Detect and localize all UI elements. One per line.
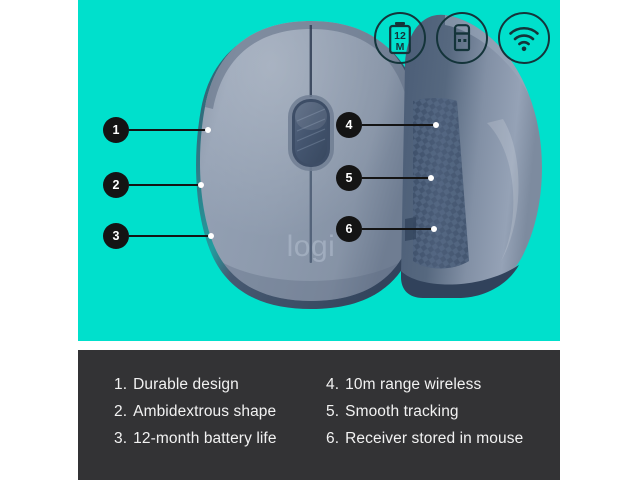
callout-leader-line-6 — [362, 228, 432, 230]
callout-leader-line-5 — [362, 177, 429, 179]
legend-item-2: 2. Ambidextrous shape — [114, 403, 316, 421]
callout-leader-line-4 — [362, 124, 434, 126]
wireless-signal-icon — [498, 12, 550, 64]
legend-item-2-text: Ambidextrous shape — [133, 403, 276, 421]
legend-item-1-text: Durable design — [133, 376, 239, 394]
legend-item-2-number: 2. — [114, 403, 127, 421]
callout-anchor-dot-6 — [431, 226, 437, 232]
usb-receiver-icon — [436, 12, 488, 64]
callout-anchor-dot-1 — [205, 127, 211, 133]
legend-item-5-text: Smooth tracking — [345, 403, 459, 421]
callout-6[interactable]: 6 — [336, 216, 437, 242]
legend-item-6-text: Receiver stored in mouse — [345, 430, 523, 448]
hero-panel: logi — [78, 0, 560, 341]
callout-leader-line-2 — [129, 184, 199, 186]
scroll-wheel-gloss — [295, 102, 327, 130]
legend-item-4: 4. 10m range wireless — [326, 376, 560, 394]
callout-4[interactable]: 4 — [336, 112, 439, 138]
callout-badge-5: 5 — [336, 165, 362, 191]
callout-badge-3: 3 — [103, 223, 129, 249]
feature-legend-panel: 1. Durable design 2. Ambidextrous shape … — [78, 350, 560, 480]
callout-badge-4: 4 — [336, 112, 362, 138]
legend-item-1: 1. Durable design — [114, 376, 316, 394]
legend-item-1-number: 1. — [114, 376, 127, 394]
legend-item-6: 6. Receiver stored in mouse — [326, 430, 560, 448]
battery-icon-months-unit: M — [396, 41, 405, 53]
legend-item-4-number: 4. — [326, 376, 339, 394]
legend-item-3: 3. 12-month battery life — [114, 430, 316, 448]
legend-item-3-text: 12-month battery life — [133, 430, 276, 448]
legend-item-5-number: 5. — [326, 403, 339, 421]
legend-item-3-number: 3. — [114, 430, 127, 448]
legend-column-left: 1. Durable design 2. Ambidextrous shape … — [78, 376, 316, 448]
callout-leader-line-3 — [129, 235, 209, 237]
legend-columns: 1. Durable design 2. Ambidextrous shape … — [78, 376, 560, 448]
legend-item-5: 5. Smooth tracking — [326, 403, 560, 421]
legend-item-6-number: 6. — [326, 430, 339, 448]
callout-5[interactable]: 5 — [336, 165, 434, 191]
callout-1[interactable]: 1 — [103, 117, 211, 143]
callout-badge-6: 6 — [336, 216, 362, 242]
callout-anchor-dot-2 — [198, 182, 204, 188]
legend-item-4-text: 10m range wireless — [345, 376, 481, 394]
product-infographic: logi — [0, 0, 640, 480]
callout-anchor-dot-3 — [208, 233, 214, 239]
battery-12-month-icon: 12 M — [374, 12, 426, 64]
callout-3[interactable]: 3 — [103, 223, 214, 249]
callout-2[interactable]: 2 — [103, 172, 204, 198]
feature-icon-row: 12 M — [374, 12, 550, 64]
callout-badge-1: 1 — [103, 117, 129, 143]
brand-logo-text: logi — [287, 230, 336, 263]
button-split-line-upper — [310, 25, 312, 97]
callout-anchor-dot-5 — [428, 175, 434, 181]
callout-anchor-dot-4 — [433, 122, 439, 128]
callout-badge-2: 2 — [103, 172, 129, 198]
legend-column-right: 4. 10m range wireless 5. Smooth tracking… — [316, 376, 560, 448]
callout-leader-line-1 — [129, 129, 206, 131]
